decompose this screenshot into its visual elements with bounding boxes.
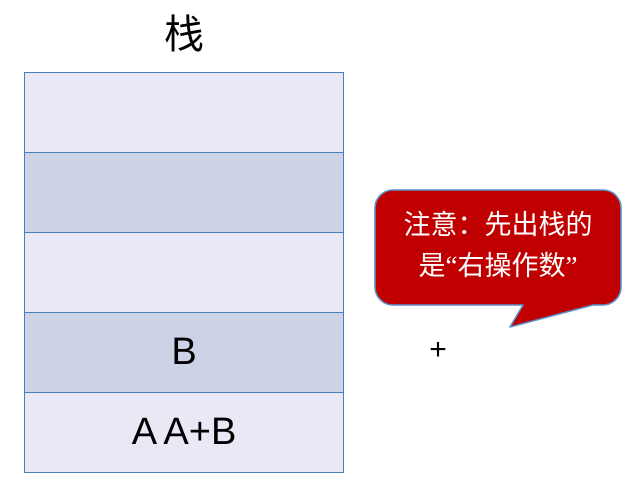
stack-row	[24, 152, 344, 232]
callout-shape-icon	[371, 186, 625, 331]
stack-row	[24, 232, 344, 312]
operator-plus-symbol: +	[420, 330, 456, 370]
stack-row: B	[24, 312, 344, 392]
stack-row	[24, 72, 344, 152]
stack-row: A A+B	[24, 392, 344, 473]
stack-table: B A A+B	[24, 72, 344, 473]
slide-canvas: 栈 B A A+B + 注意：先出栈的 是“右操作数”	[0, 0, 631, 489]
callout-bubble: 注意：先出栈的 是“右操作数”	[371, 186, 625, 331]
page-title: 栈	[24, 8, 344, 62]
